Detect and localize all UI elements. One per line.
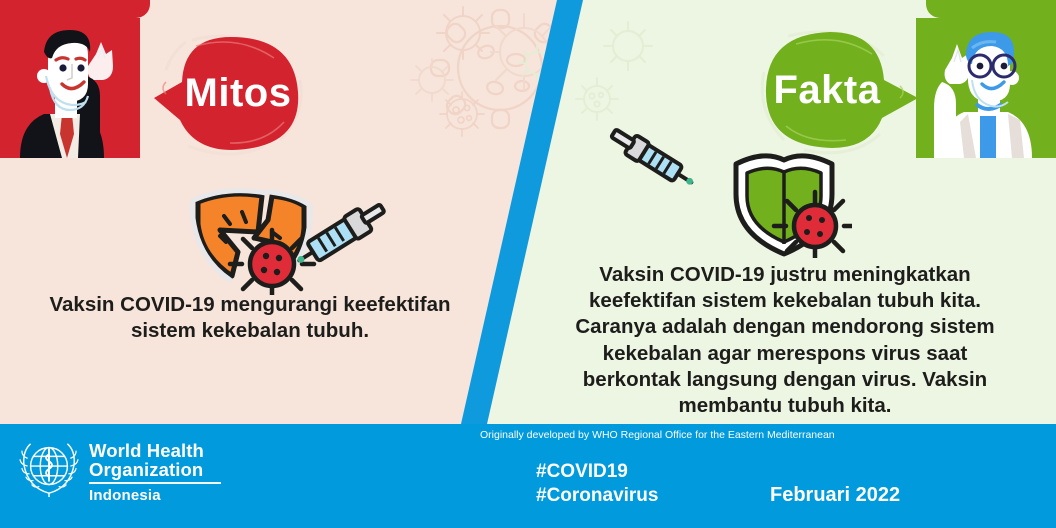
who-line-2: Organization — [89, 460, 221, 479]
fact-body-text: Vaksin COVID-19 justru meningkatkan keef… — [556, 262, 1014, 419]
top-left-red-bar — [0, 0, 150, 18]
broken-shield-illustration — [180, 180, 390, 300]
fact-character-illustration — [916, 18, 1056, 158]
publication-date: Februari 2022 — [770, 484, 900, 507]
hashtag-coronavirus: #Coronavirus — [536, 484, 658, 508]
attribution-text: Originally developed by WHO Regional Off… — [480, 429, 1040, 441]
fact-speech-bubble: Fakta — [752, 22, 922, 158]
who-divider-rule — [89, 482, 221, 484]
myth-speech-bubble: Mitos — [152, 28, 310, 158]
myth-body-text: Vaksin COVID-19 mengurangi keefektifan s… — [38, 292, 462, 344]
who-logo: World Health Organization Indonesia — [18, 437, 221, 504]
who-wordmark: World Health Organization Indonesia — [89, 437, 221, 504]
who-country-label: Indonesia — [89, 487, 221, 504]
intact-shield-illustration — [722, 146, 852, 263]
who-emblem-icon — [18, 437, 80, 499]
fact-bubble-label: Fakta — [752, 22, 922, 158]
fact-syringe-illustration — [604, 128, 704, 195]
myth-bubble-label: Mitos — [152, 28, 310, 158]
hashtag-block: #COVID19 #Coronavirus — [536, 460, 658, 508]
footer-bar: World Health Organization Indonesia Orig… — [0, 424, 1056, 528]
myth-character-illustration — [0, 18, 140, 158]
who-line-1: World Health — [89, 441, 221, 460]
hashtag-covid19: #COVID19 — [536, 460, 658, 484]
top-right-green-bar — [926, 0, 1056, 18]
infographic-poster: Mitos Fakta — [0, 0, 1056, 528]
